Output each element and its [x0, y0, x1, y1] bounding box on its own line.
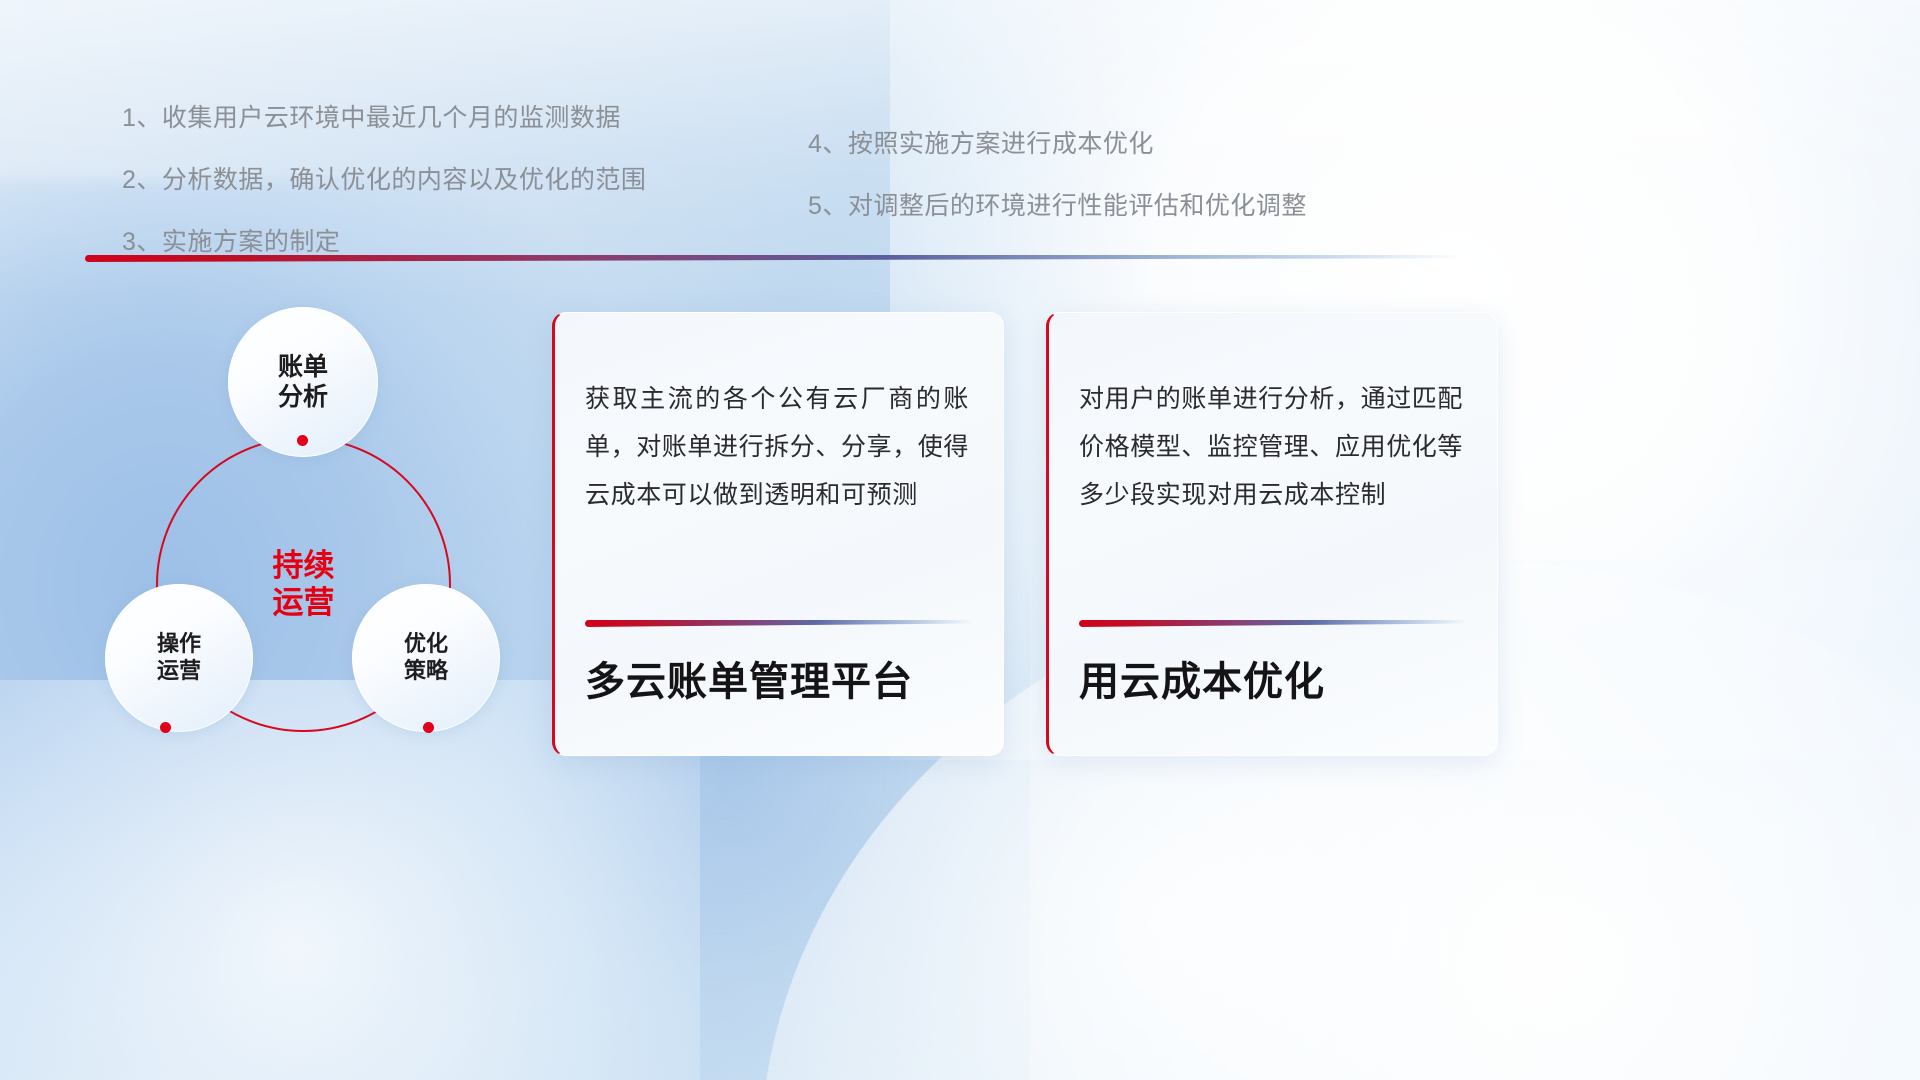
step-item-2: 2、分析数据，确认优化的内容以及优化的范围: [122, 160, 646, 196]
venn-node-dot-bottom-left: [160, 722, 171, 733]
venn-center-label-line1: 持续: [273, 548, 335, 585]
feature-card-cost-optimization-title: 用云成本优化: [1079, 649, 1325, 707]
feature-card-billing-platform-divider: [585, 620, 973, 627]
feature-card-cost-optimization-body: 对用户的账单进行分析，通过匹配价格模型、监控管理、应用优化等多少段实现对用云成本…: [1079, 375, 1463, 519]
step-item-5: 5、对调整后的环境进行性能评估和优化调整: [808, 186, 1307, 222]
venn-node-dot-bottom-right: [423, 722, 434, 733]
venn-bubble-billing-analysis-line1: 账单: [278, 352, 328, 383]
step-item-3: 3、实施方案的制定: [122, 222, 646, 258]
venn-bubble-billing-analysis-line2: 分析: [278, 382, 328, 413]
venn-diagram: 操作 运营 优化 策略 账单 分析 持续 运营: [80, 292, 550, 762]
feature-card-billing-platform-body: 获取主流的各个公有云厂商的账单，对账单进行拆分、分享，使得云成本可以做到透明和可…: [585, 375, 969, 519]
step-item-4: 4、按照实施方案进行成本优化: [808, 124, 1307, 160]
feature-card-cost-optimization-divider: [1079, 620, 1467, 627]
step-item-1: 1、收集用户云环境中最近几个月的监测数据: [122, 98, 646, 134]
steps-list-right: 4、按照实施方案进行成本优化 5、对调整后的环境进行性能评估和优化调整: [808, 124, 1307, 248]
feature-card-billing-platform-title: 多云账单管理平台: [585, 649, 913, 707]
venn-node-dot-top: [297, 435, 308, 446]
feature-card-billing-platform[interactable]: 获取主流的各个公有云厂商的账单，对账单进行拆分、分享，使得云成本可以做到透明和可…: [552, 312, 1004, 756]
feature-card-cost-optimization[interactable]: 对用户的账单进行分析，通过匹配价格模型、监控管理、应用优化等多少段实现对用云成本…: [1046, 312, 1498, 756]
venn-center-label-line2: 运营: [273, 585, 335, 622]
venn-center-label: 持续 运营: [156, 437, 451, 732]
